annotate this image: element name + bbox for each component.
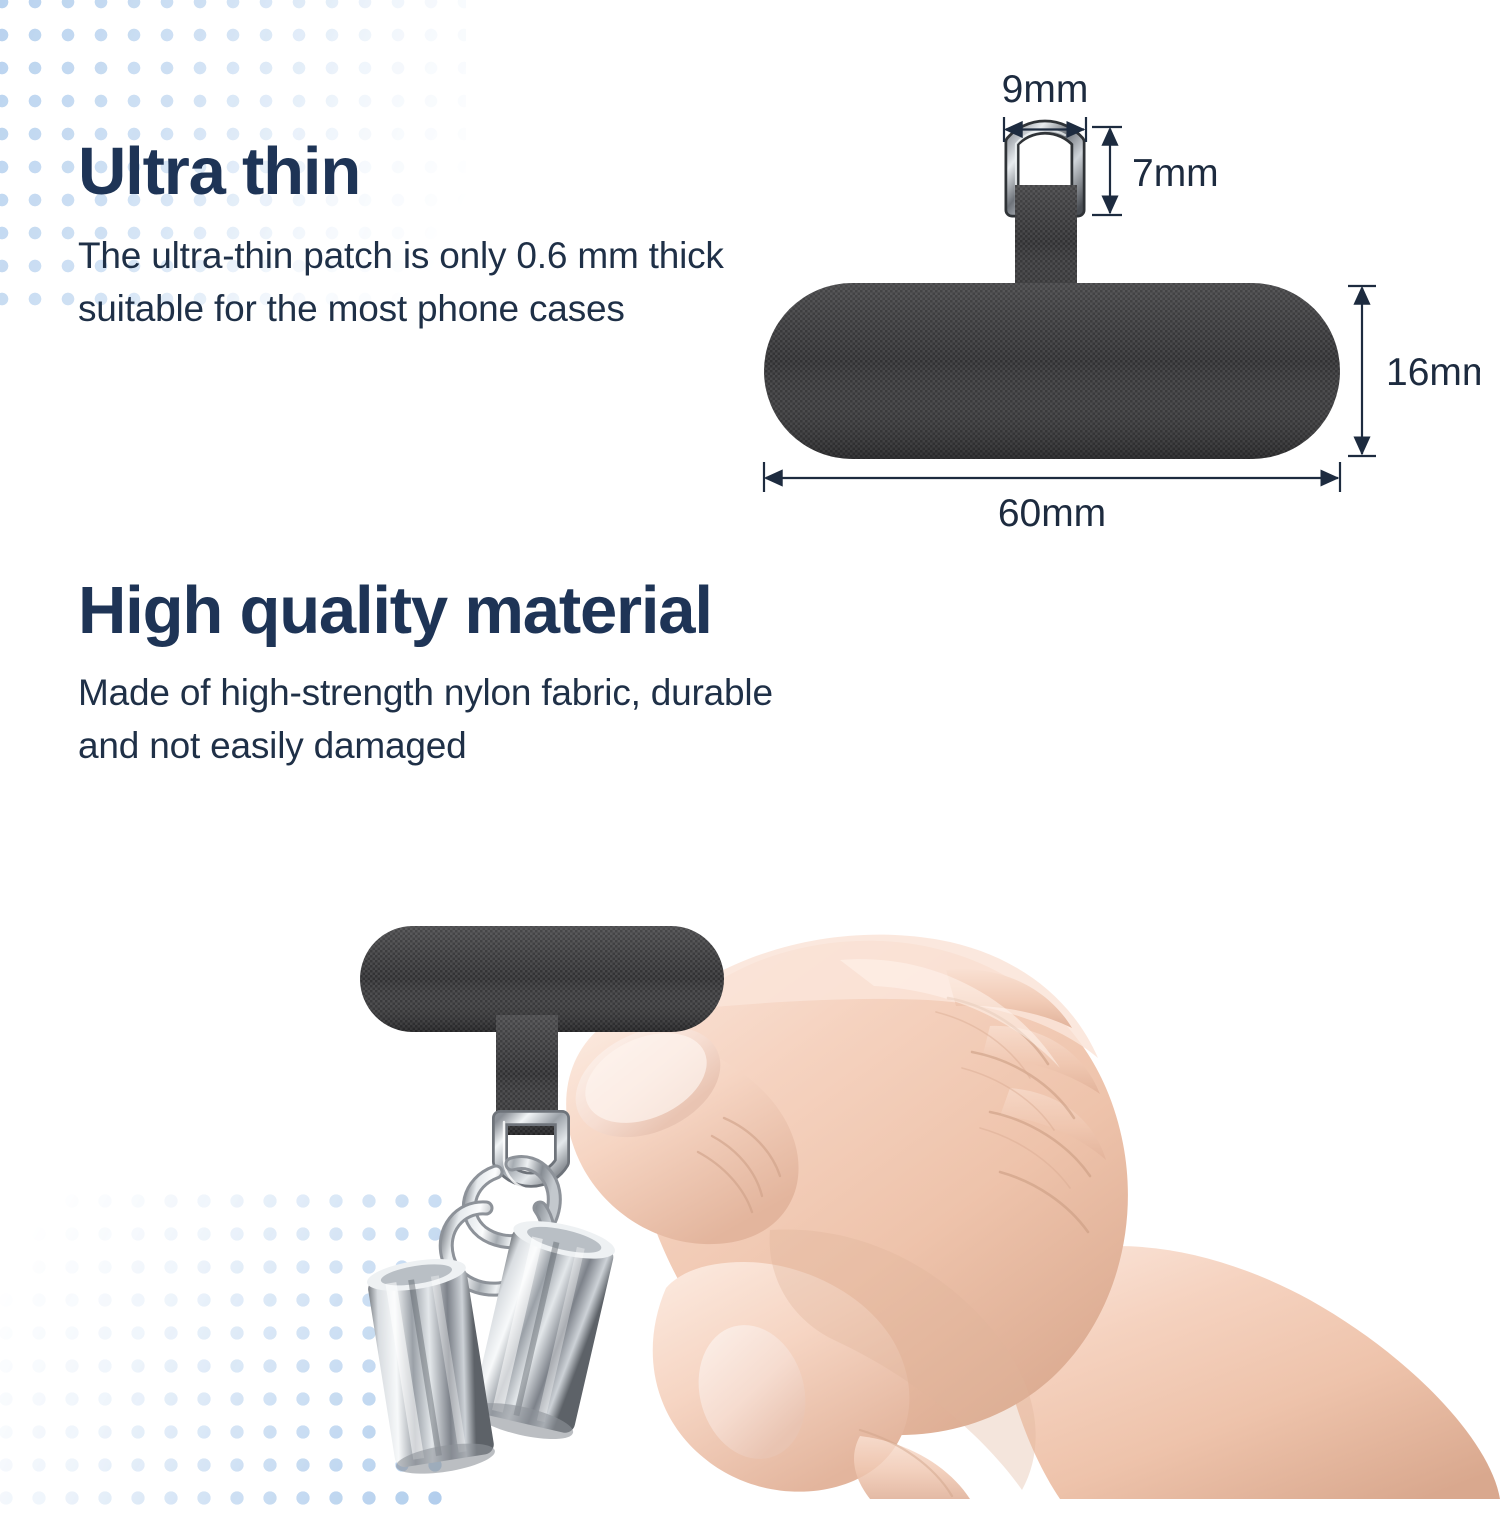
hero-hand-holding-patch: [300, 800, 1500, 1499]
section-ultra-thin-headline: Ultra thin: [78, 138, 798, 205]
metal-weight-right: [469, 1214, 619, 1447]
section-high-quality-material-body: Made of high-strength nylon fabric, dura…: [78, 666, 838, 773]
dimension-label-patch-width: 60mm: [998, 492, 1106, 530]
section-high-quality-material-headline: High quality material: [78, 577, 838, 644]
dimension-patch-height: [1348, 286, 1376, 456]
patch-body: [764, 283, 1340, 459]
section-ultra-thin: Ultra thin The ultra-thin patch is only …: [78, 138, 798, 336]
dimension-label-patch-height: 16mm: [1386, 351, 1480, 394]
dimension-label-ring-width: 9mm: [1002, 68, 1089, 111]
section-ultra-thin-body: The ultra-thin patch is only 0.6 mm thic…: [78, 229, 798, 336]
dimension-patch-width: [764, 462, 1340, 492]
dimension-label-ring-height: 7mm: [1132, 152, 1219, 195]
product-dimension-diagram: 9mm 7mm 16mm 60mm: [740, 30, 1480, 530]
section-high-quality-material: High quality material Made of high-stren…: [78, 577, 838, 773]
dimension-ring-height: [1092, 127, 1122, 215]
